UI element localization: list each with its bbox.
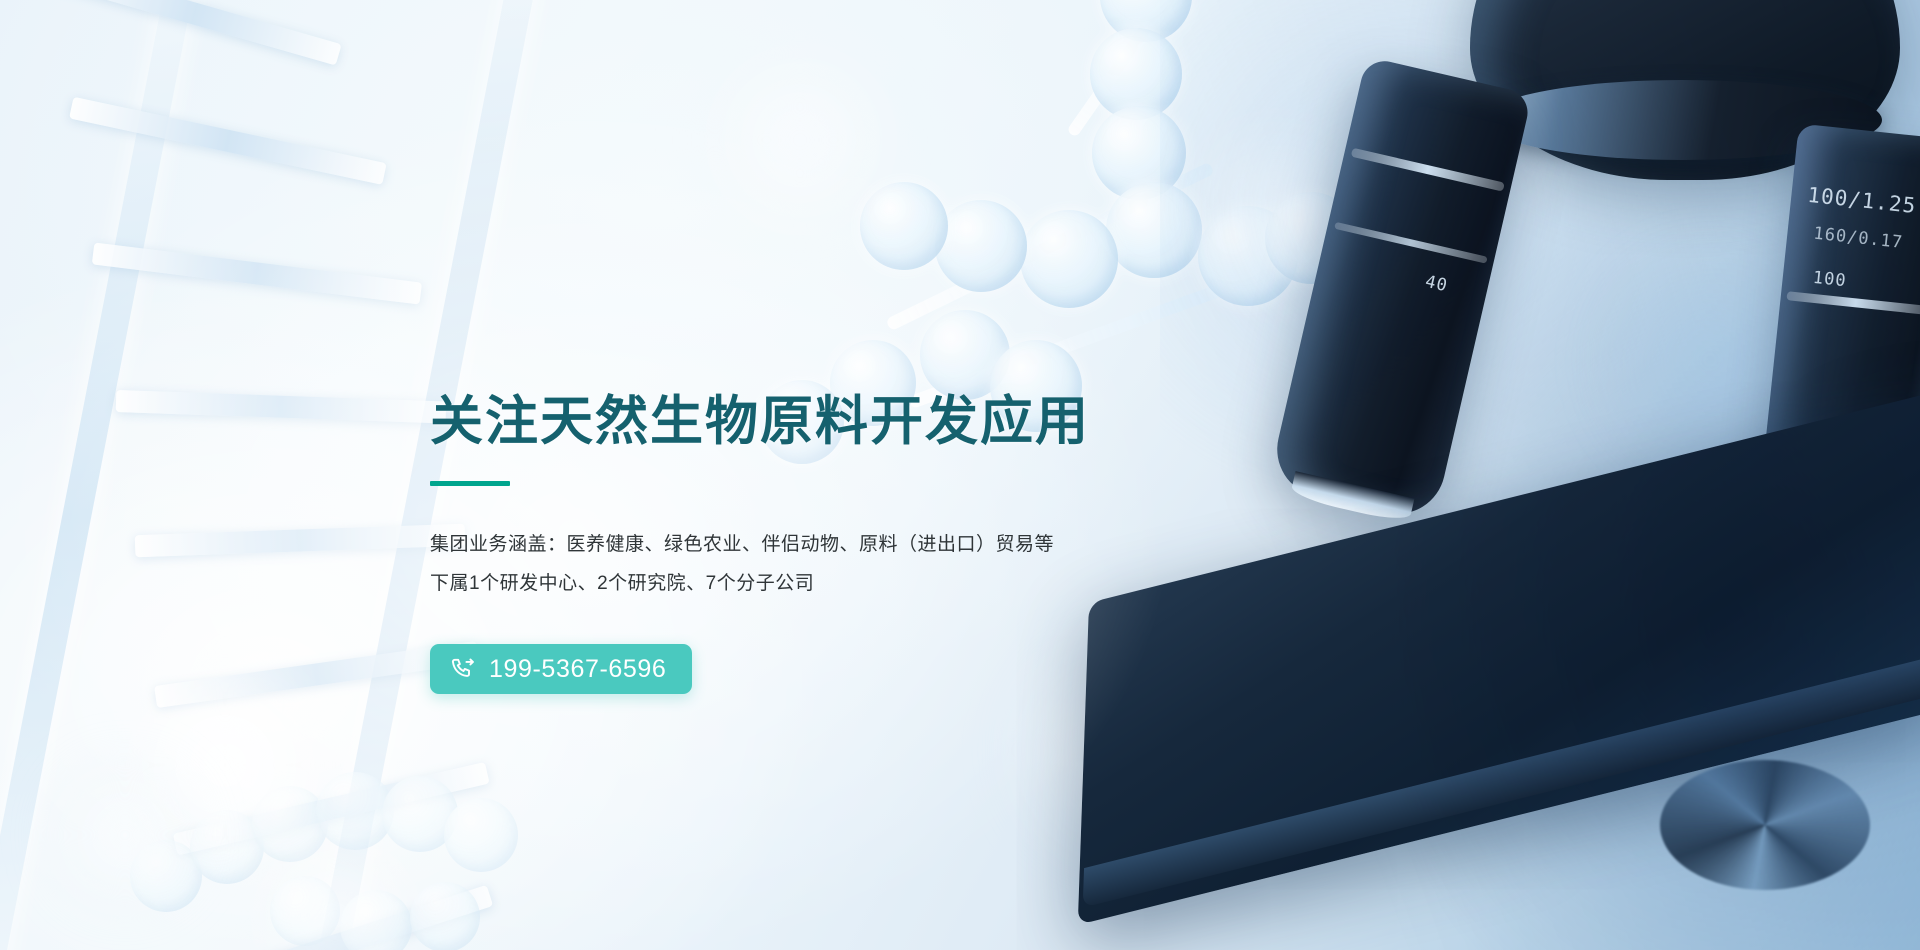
molecule-atom [1100, 0, 1192, 42]
hero-description: 集团业务涵盖：医养健康、绿色农业、伴侣动物、原料（进出口）贸易等 下属1个研发中… [430, 526, 1250, 604]
microscope-objective-lens-primary: 40 [1268, 57, 1533, 524]
molecule-atom [130, 840, 202, 912]
microscope-nosepiece [1470, 0, 1900, 180]
bokeh-light [1420, 60, 1580, 220]
molecule-atom [1090, 28, 1182, 120]
bokeh-light [1180, 120, 1370, 310]
phone-forward-icon [450, 656, 477, 683]
hero-content: 关注天然生物原料开发应用 集团业务涵盖：医养健康、绿色农业、伴侣动物、原料（进出… [430, 392, 1250, 694]
call-phone-button[interactable]: 199-5367-6596 [430, 644, 692, 694]
helix-rung [47, 0, 341, 66]
molecule-atom [920, 310, 1010, 400]
molecule-atom [252, 786, 328, 862]
molecule-atom [316, 772, 394, 850]
phone-number-label: 199-5367-6596 [489, 655, 666, 684]
molecule-atom [860, 182, 948, 270]
molecule-atom [1198, 206, 1298, 306]
objective-magnification-100-label: 100 [1812, 268, 1848, 291]
bokeh-light [120, 660, 330, 870]
dna-helix-secondary-graphic [120, 690, 540, 950]
molecule-atom [410, 882, 480, 950]
microscope-graphic: 40 100/1.25 160/0.17 100 [1140, 0, 1920, 950]
description-line-1: 集团业务涵盖：医养健康、绿色农业、伴侣动物、原料（进出口）贸易等 [430, 526, 1250, 565]
molecule-atom [1092, 106, 1186, 200]
page-title: 关注天然生物原料开发应用 [430, 392, 1250, 451]
helix-rung [173, 762, 490, 855]
molecule-bond [908, 284, 1223, 409]
bokeh-light [700, 40, 900, 240]
bokeh-light [250, 830, 420, 950]
objective-lens-tip [1770, 573, 1880, 610]
microscope-turret-ring [1482, 80, 1882, 160]
hero-banner: 40 100/1.25 160/0.17 100 关注天然生物原料开发应用 集团… [0, 0, 1920, 950]
helix-rail-left [0, 0, 215, 950]
molecule-atom [444, 798, 518, 872]
molecule-atom [382, 776, 458, 852]
objective-aperture-primary-label: 100/1.25 [1806, 183, 1917, 218]
helix-rung [69, 97, 387, 185]
objective-band [1334, 222, 1488, 264]
blue-light-haze [1160, 0, 1920, 950]
helix-rung [92, 242, 422, 304]
microscope-stage-clip [1597, 447, 1902, 594]
bokeh-light [50, 760, 200, 910]
molecule-atom [270, 876, 340, 946]
microscope-objective-lens-secondary: 100/1.25 160/0.17 100 [1750, 123, 1920, 606]
molecule-atom [1106, 182, 1202, 278]
helix-rung [116, 390, 447, 424]
helix-rung [135, 524, 466, 558]
molecule-atom [190, 810, 264, 884]
molecule-atom [340, 890, 412, 950]
objective-aperture-secondary-label: 160/0.17 [1812, 224, 1903, 253]
description-line-2: 下属1个研发中心、2个研究院、7个分子公司 [430, 565, 1250, 604]
molecule-bond [885, 162, 1214, 331]
microscope-focus-knob [1660, 760, 1870, 890]
molecule-atom [1265, 192, 1357, 284]
molecule-atom [935, 200, 1027, 292]
molecule-atom [1020, 210, 1118, 308]
objective-magnification-40-label: 40 [1423, 272, 1449, 297]
bokeh-light [1600, 250, 1820, 470]
objective-lens-tip [1290, 471, 1415, 524]
accent-divider [430, 481, 510, 486]
helix-rung [192, 885, 494, 950]
objective-band [1351, 148, 1505, 192]
molecule-bond [1066, 0, 1213, 138]
objective-band [1786, 291, 1920, 314]
